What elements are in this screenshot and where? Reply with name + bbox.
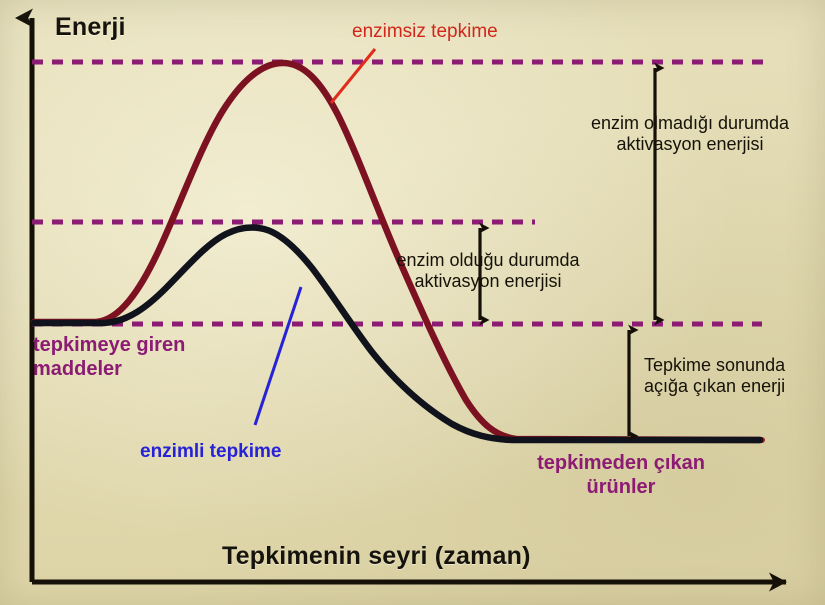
energy-released-label: Tepkime sonunda açığa çıkan enerji [644,355,824,397]
y-axis-label: Enerji [55,13,126,43]
leader-lines [255,49,375,425]
x-axis-label: Tepkimenin seyri (zaman) [222,542,531,572]
products-label: tepkimeden çıkan ürünler [521,452,721,499]
activation-energy-without-enzyme-label: enzim olmadığı durumda aktivasyon enerji… [561,113,819,155]
catalyzed-curve-label: enzimli tepkime [140,441,282,463]
uncatalyzed-curve-label: enzimsiz tepkime [352,21,498,43]
activation-energy-with-enzyme-label: enzim olduğu durumda aktivasyon enerjisi [373,250,603,292]
leader-line-uncatalyzed [331,49,375,103]
energy-profile-figure [0,0,825,605]
reactants-label: tepkimeye giren maddeler [33,334,185,381]
enzyme-energy-diagram: Enerji Tepkimenin seyri (zaman) enzimsiz… [0,0,825,605]
leader-line-catalyzed [255,287,301,425]
